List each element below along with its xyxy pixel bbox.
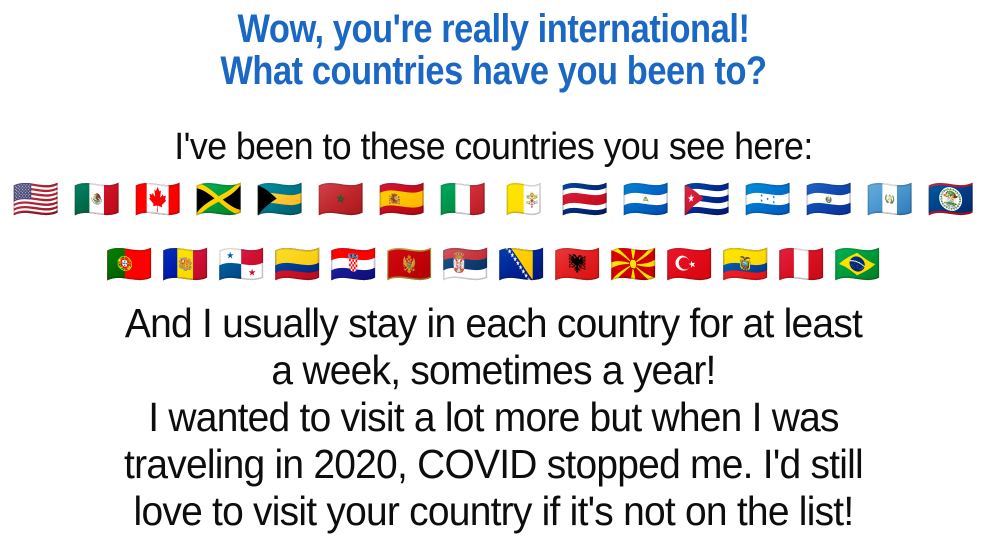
headline-line-2: What countries have you been to?	[69, 50, 918, 92]
flag-colombia-icon: 🇨🇴	[270, 239, 326, 289]
flag-montenegro-icon: 🇲🇪	[382, 239, 438, 289]
flag-jamaica-icon: 🇯🇲	[189, 174, 250, 224]
body-line-1: And I usually stay in each country for a…	[25, 300, 963, 347]
flag-north-macedonia-icon: 🇲🇰	[606, 239, 662, 289]
flag-spain-icon: 🇪🇸	[372, 174, 433, 224]
flag-italy-icon: 🇮🇹	[433, 174, 494, 224]
flag-panama-icon: 🇵🇦	[214, 239, 270, 289]
flag-andorra-icon: 🇦🇩	[158, 239, 214, 289]
flag-peru-icon: 🇵🇪	[774, 239, 830, 289]
subheading: I've been to these countries you see her…	[30, 126, 958, 168]
flag-guatemala-icon: 🇬🇹	[860, 174, 921, 224]
flag-turkey-icon: 🇹🇷	[662, 239, 718, 289]
flag-costa-rica-icon: 🇨🇷	[555, 174, 616, 224]
headline-line-1: Wow, you're really international!	[69, 8, 918, 50]
flag-vatican-city-icon: 🇻🇦	[494, 174, 555, 224]
flag-row-1: 🇺🇸🇲🇽🇨🇦🇯🇲🇧🇸🇲🇦🇪🇸🇮🇹🇻🇦🇨🇷🇳🇮🇨🇺🇭🇳🇸🇻🇬🇹🇧🇿	[0, 174, 987, 224]
flag-nicaragua-icon: 🇳🇮	[616, 174, 677, 224]
flag-morocco-icon: 🇲🇦	[311, 174, 372, 224]
headline: Wow, you're really international! What c…	[69, 8, 918, 92]
flag-honduras-icon: 🇭🇳	[738, 174, 799, 224]
flag-mexico-icon: 🇲🇽	[67, 174, 128, 224]
flag-bosnia-and-herzegovina-icon: 🇧🇦	[494, 239, 550, 289]
body-line-5: love to visit your country if it's not o…	[25, 488, 963, 535]
flag-belize-icon: 🇧🇿	[921, 174, 982, 224]
flag-portugal-icon: 🇵🇹	[102, 239, 158, 289]
flag-row-2: 🇵🇹🇦🇩🇵🇦🇨🇴🇭🇷🇲🇪🇷🇸🇧🇦🇦🇱🇲🇰🇹🇷🇪🇨🇵🇪🇧🇷	[0, 239, 987, 289]
flag-croatia-icon: 🇭🇷	[326, 239, 382, 289]
flag-bahamas-icon: 🇧🇸	[250, 174, 311, 224]
flag-united-states-icon: 🇺🇸	[6, 174, 67, 224]
body-text: And I usually stay in each country for a…	[25, 300, 963, 535]
flag-cuba-icon: 🇨🇺	[677, 174, 738, 224]
image-canvas: Wow, you're really international! What c…	[0, 0, 987, 554]
flag-canada-icon: 🇨🇦	[128, 174, 189, 224]
body-line-3: I wanted to visit a lot more but when I …	[25, 394, 963, 441]
body-line-4: traveling in 2020, COVID stopped me. I'd…	[25, 441, 963, 488]
flag-serbia-icon: 🇷🇸	[438, 239, 494, 289]
flag-ecuador-icon: 🇪🇨	[718, 239, 774, 289]
body-line-2: a week, sometimes a year!	[25, 347, 963, 394]
flag-el-salvador-icon: 🇸🇻	[799, 174, 860, 224]
flag-brazil-icon: 🇧🇷	[830, 239, 886, 289]
flag-albania-icon: 🇦🇱	[550, 239, 606, 289]
